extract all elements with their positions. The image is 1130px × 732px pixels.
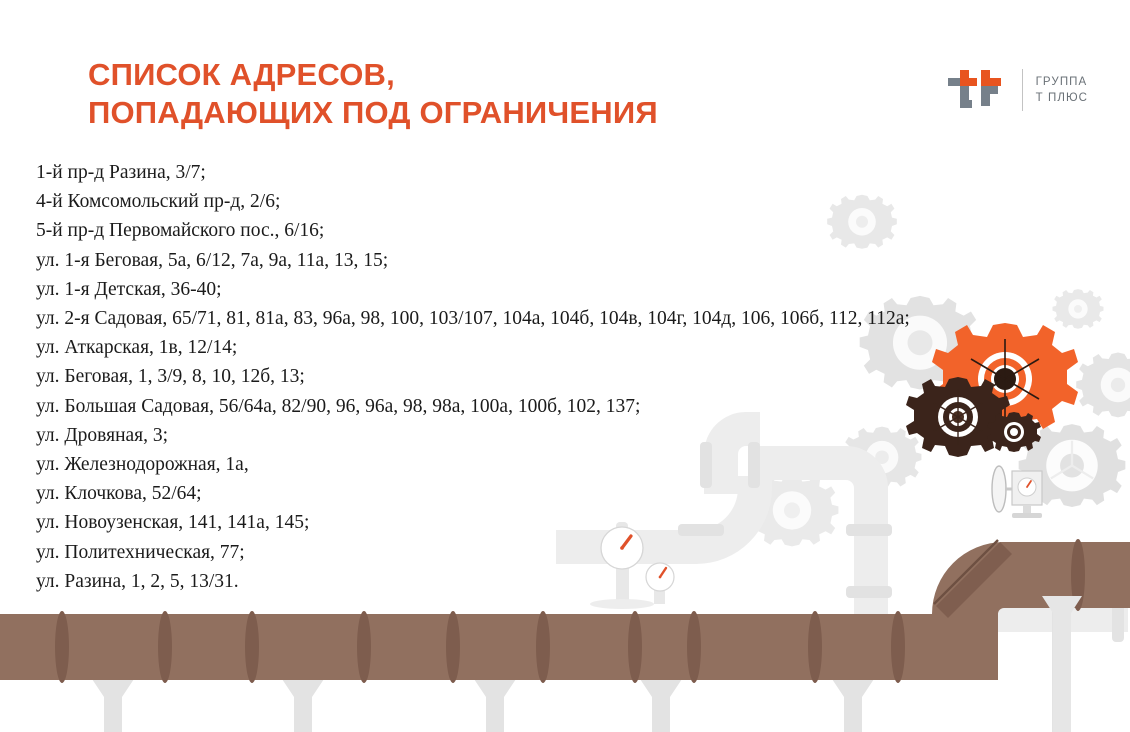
address-list-item: 1-й пр-д Разина, 3/7; bbox=[36, 158, 1126, 187]
address-list-item: ул. Клочкова, 52/64; bbox=[36, 479, 1126, 508]
pipe-support-group bbox=[92, 592, 1082, 732]
company-logo[interactable]: ГРУППА Т ПЛЮС bbox=[945, 62, 1088, 118]
address-list-item: ул. Аткарская, 1в, 12/14; bbox=[36, 333, 1126, 362]
logo-wordmark-line-1: ГРУППА bbox=[1036, 74, 1088, 90]
logo-wordmark-line-2: Т ПЛЮС bbox=[1036, 90, 1088, 106]
address-list-item: ул. Беговая, 1, 3/9, 8, 10, 12б, 13; bbox=[36, 362, 1126, 391]
address-list-item: 5-й пр-д Первомайского пос., 6/16; bbox=[36, 216, 1126, 245]
address-list-item: ул. Политехническая, 77; bbox=[36, 538, 1126, 567]
logo-wordmark: ГРУППА Т ПЛЮС bbox=[1036, 74, 1088, 106]
logo-divider bbox=[1022, 69, 1023, 111]
address-list-item: ул. Железнодорожная, 1а, bbox=[36, 450, 1126, 479]
address-list-item: ул. 1-я Беговая, 5а, 6/12, 7а, 9а, 11а, … bbox=[36, 246, 1126, 275]
address-list: 1-й пр-д Разина, 3/7;4-й Комсомольский п… bbox=[36, 158, 1126, 596]
t-plus-logo-mark-icon bbox=[945, 64, 1007, 116]
address-list-item: ул. 1-я Детская, 36-40; bbox=[36, 275, 1126, 304]
pipe-support-front bbox=[1042, 596, 1082, 732]
page-title: СПИСОК АДРЕСОВ, ПОПАДАЮЩИХ ПОД ОГРАНИЧЕН… bbox=[88, 56, 888, 132]
address-list-item: ул. 2-я Садовая, 65/71, 81, 81а, 83, 96а… bbox=[36, 304, 1126, 333]
address-list-item: ул. Большая Садовая, 56/64а, 82/90, 96, … bbox=[36, 392, 1126, 421]
address-list-item: ул. Новоузенская, 141, 141а, 145; bbox=[36, 508, 1126, 537]
slide-header: СПИСОК АДРЕСОВ, ПОПАДАЮЩИХ ПОД ОГРАНИЧЕН… bbox=[0, 0, 1130, 145]
slide-canvas: СПИСОК АДРЕСОВ, ПОПАДАЮЩИХ ПОД ОГРАНИЧЕН… bbox=[0, 0, 1130, 732]
page-title-line-2: ПОПАДАЮЩИХ ПОД ОГРАНИЧЕНИЯ bbox=[88, 94, 888, 132]
address-list-item: 4-й Комсомольский пр-д, 2/6; bbox=[36, 187, 1126, 216]
page-title-line-1: СПИСОК АДРЕСОВ, bbox=[88, 56, 888, 94]
address-list-item: ул. Разина, 1, 2, 5, 13/31. bbox=[36, 567, 1126, 596]
address-list-item: ул. Дровяная, 3; bbox=[36, 421, 1126, 450]
